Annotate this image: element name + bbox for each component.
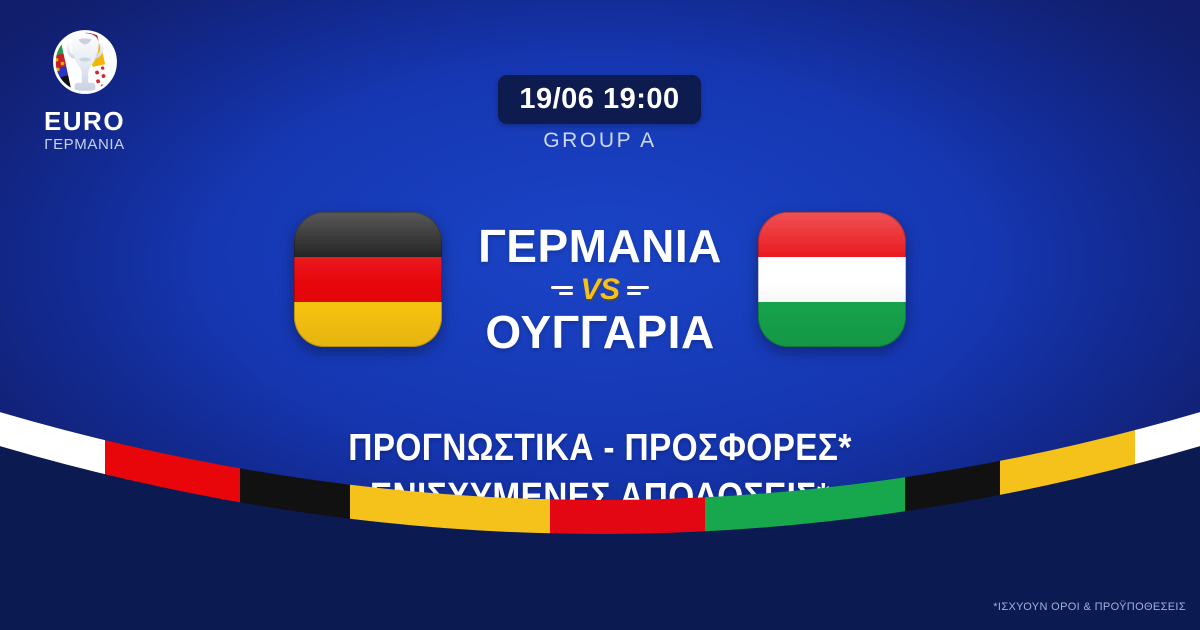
hungary-flag-icon — [758, 212, 906, 347]
match-row: ΓΕΡΜΑΝΙΑ VS ΟΥΓΓΑΡΙΑ — [0, 205, 1200, 375]
home-team-name: ΓΕΡΜΑΝΙΑ — [478, 223, 722, 271]
germany-flag-icon — [294, 212, 442, 347]
away-team-name: ΟΥΓΓΑΡΙΑ — [485, 309, 714, 357]
match-stage-label: GROUP A — [0, 130, 1200, 151]
vs-label: VS — [580, 275, 619, 305]
match-datetime-badge: 19/06 19:00 — [498, 75, 701, 124]
euro-2024-trophy-icon — [45, 22, 125, 102]
match-datetime-text: 19/06 19:00 — [519, 85, 679, 114]
promo-graphic-canvas: EURO ΓΕΡΜΑΝΙΑ 19/06 19:00 GROUP A ΓΕΡΜΑΝ… — [0, 0, 1200, 630]
versus-separator: VS — [551, 273, 648, 307]
vs-speedlines-right — [627, 286, 649, 295]
bottom-arc-band — [0, 390, 1200, 630]
terms-fineprint: *ΙΣΧΥΟΥΝ ΟΡΟΙ & ΠΡΟΫΠΟΘΕΣΕΙΣ — [993, 602, 1186, 613]
vs-speedlines-left — [551, 286, 573, 295]
team-names-block: ΓΕΡΜΑΝΙΑ VS ΟΥΓΓΑΡΙΑ — [455, 205, 745, 375]
arc-band-graphic — [0, 390, 1200, 630]
